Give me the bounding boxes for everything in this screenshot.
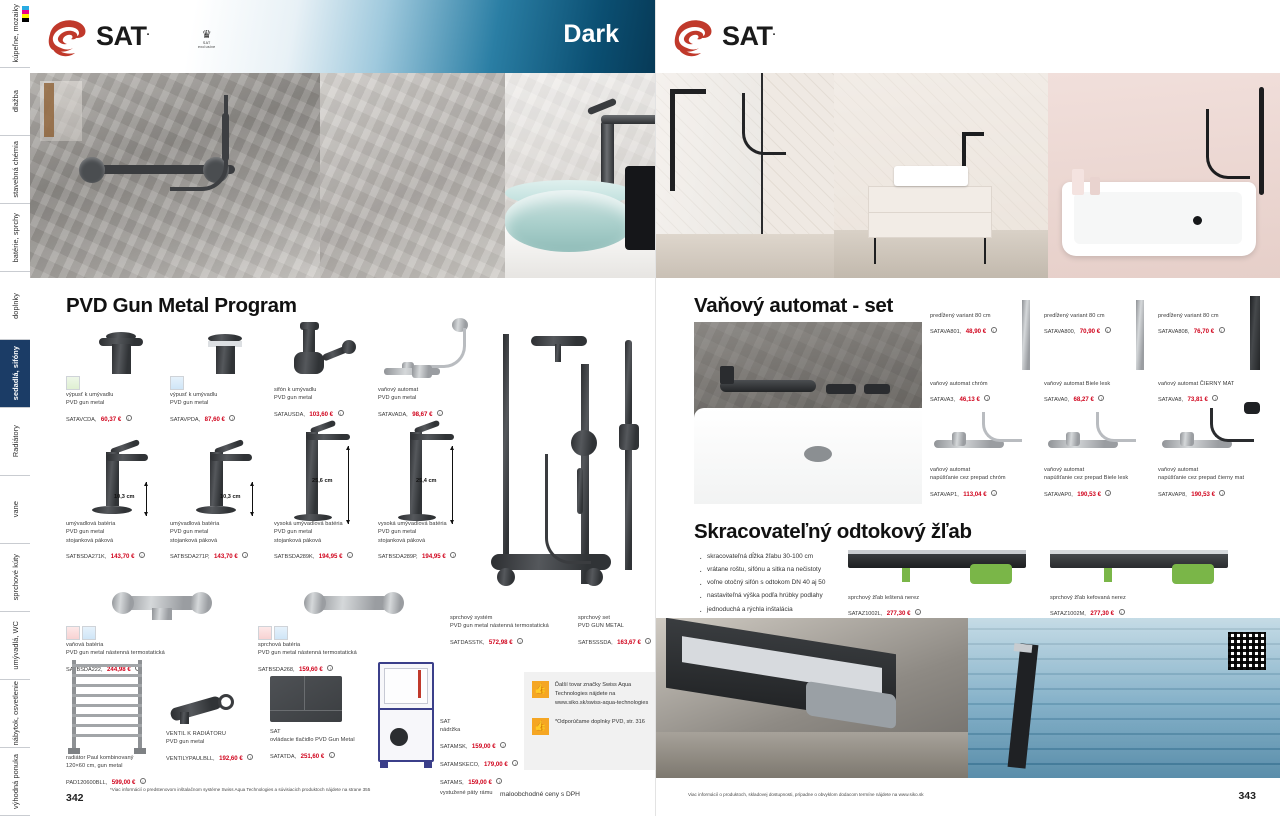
sat-logo-right: SAT. [668,14,775,58]
product-name-line2: PVD gun metal nástenná termostatická [258,649,408,657]
left-hero-photos [30,73,655,278]
product-price: 103,60 € [309,411,333,418]
product-code: SATAVAP0, [1044,492,1073,498]
product-name-line2: napúšťanie cez prepad chróm [930,474,1042,482]
fill-automat-art-2 [1162,408,1268,464]
qr-code-icon[interactable] [1228,632,1266,670]
product-code: SATAVADA, [378,412,408,418]
product-code: SATATDA, [270,754,296,760]
photo-drain-installation [656,618,968,778]
info-icon[interactable]: i [139,552,145,558]
shower-hose-art [170,95,228,191]
right-page: SAT. [655,0,1280,816]
product-card-fill-2[interactable]: vaňový automat napúšťanie cez prepad čie… [1158,466,1270,501]
info-icon[interactable]: i [327,665,333,671]
sidebar-item-10[interactable]: nábytok, osvetlenie [0,680,30,748]
product-badges [66,626,216,640]
product-name-line2: PVD gun metal [166,738,284,746]
product-name-line1: radiátor Paul kombinovaný [66,754,176,762]
section-title-drain-channel: Skracovateľný odtokový žľab [694,520,972,544]
tab-label: doplnky [11,293,20,319]
drain-channel-art-0 [848,548,1036,594]
vanity-legs-art [874,238,986,264]
product-card-1[interactable]: výpusť k umývadlu PVD gun metal SATAVPDA… [170,330,274,426]
product-price: 70,90 € [1080,328,1100,335]
product-price: 98,67 € [412,411,432,418]
product-code: SATAVA8, [1158,397,1183,403]
water-saving-icon [274,626,288,640]
product-card-4[interactable]: 10,3 cm umývadlová batéria PVD gun metal… [66,432,170,563]
product-name-line1: sifón k umývadlu [274,386,378,394]
product-card-12[interactable]: radiátor Paul kombinovaný 120×60 cm, gun… [66,660,176,789]
product-price: 190,53 € [1191,491,1215,498]
frame-code-0: SATAMSK, [440,744,467,750]
product-name-line2: PVD gun metal nástenná termostatická [450,622,568,630]
product-price: 159,60 € [299,666,323,673]
product-price: 163,67 € [617,639,641,646]
product-price: 60,37 € [101,416,121,423]
product-price: 73,81 € [1188,396,1208,403]
sat-swirl-icon [42,14,90,58]
hand-shower-art [222,113,229,161]
page-number-right: 343 [1238,790,1256,802]
note-text-0: Ďalší tovar značky Swiss Aqua Technologi… [555,681,656,709]
overflow-tube-art-2 [1250,296,1260,370]
product-badges [66,376,170,390]
footnote-left: *Viac informácií o predstenovom inštalač… [110,787,530,792]
product-code: SATAVCDA, [66,417,96,423]
product-code: SATAZ1002L, [848,611,882,617]
thumbs-up-icon: 👍 [532,681,549,698]
info-icon[interactable]: i [1219,490,1225,496]
sidebar-item-6[interactable]: Radiátory [0,408,30,476]
info-icon[interactable]: i [229,415,235,421]
fill-automat-art-0 [934,412,1030,464]
product-name-line2: napúšťanie cez prepad čierny mat [1158,474,1270,482]
product-name-line3: stojanková páková [274,537,378,545]
product-image-basin-mixer-p [170,432,274,520]
note-row-1: 👍 *Odporúčame doplnky PVD, str. 316 [532,718,656,735]
sat-exclusive-badge: ♛ SAT exclusive [198,30,215,49]
hero-photo-basin [505,73,655,278]
product-code: SATAVA800, [1044,329,1075,335]
note-row-0: 👍 Ďalší tovar značky Swiss Aqua Technolo… [532,681,656,709]
info-icon[interactable]: i [242,552,248,558]
product-image-tall-mixer-k [274,418,378,520]
product-name-line1: SAT [270,728,388,736]
overflow-tube-art-0 [1022,300,1030,370]
drain-channel-art-1 [1050,548,1238,594]
product-code: SATAVA801, [930,329,961,335]
product-price: 143,70 € [111,553,135,560]
product-name-line1: vaňový automat chróm [930,380,1042,388]
product-name-line2: PVD gun metal [66,528,170,536]
product-code: SATBSDA268, [258,667,295,673]
product-name-line1: výpusť k umývadlu [170,391,274,399]
product-price: 68,27 € [1074,396,1094,403]
product-name-line2: PVD gun metal [274,528,378,536]
product-name-line1: sprchová batéria [258,641,408,649]
product-name-line1: sprchový žľab kefovaná nerez [1050,594,1240,602]
right-hero-photos [656,73,1280,278]
hero-photo-wall-mixer [30,73,320,278]
product-badges [170,376,274,390]
product-image-bath-thermostat [66,590,216,626]
product-image-tall-mixer-p [378,418,486,520]
tab-label: umývadlá, WC [11,621,20,670]
hero-photo-shower-enclosure [656,73,834,278]
info-icon[interactable]: i [1098,395,1104,401]
crown-icon: ♛ [198,30,215,41]
tab-label: sedadlá, sifóny [11,346,20,400]
click-clack-icon [66,376,80,390]
info-icon[interactable]: i [1105,490,1111,496]
sidebar-item-4[interactable]: doplnky [0,272,30,340]
tab-label: nábytok, osvetlenie [11,681,20,745]
thermostat-icon [258,626,272,640]
info-icon[interactable]: i [140,778,146,784]
sat-wordmark: SAT. [96,21,149,52]
product-code: SATAVA0, [1044,397,1069,403]
dimension-label: 25,4 cm [416,478,437,484]
info-note-box: 👍 Ďalší tovar značky Swiss Aqua Technolo… [524,672,664,770]
product-name-line1: vysoká umývadlová batéria [274,520,378,528]
product-name-line3: stojanková páková [170,537,274,545]
retail-price-note: maloobchodné ceny s DPH [500,791,580,798]
left-page-header: SAT. ♛ SAT exclusive Dark [30,0,655,73]
info-icon[interactable]: i [517,638,523,644]
product-code: SATBSDA289K, [274,554,314,560]
sidebar-item-11[interactable]: výhodná ponuka [0,748,30,816]
product-card-fill-0[interactable]: vaňový automat napúšťanie cez prepad chr… [930,466,1042,501]
info-icon[interactable]: i [1219,327,1225,333]
sat-wordmark-right: SAT. [722,21,775,52]
installation-photos [656,618,1280,778]
product-name-line2: PVD gun metal [170,528,274,536]
product-name-line2: 120×60 cm, gun metal [66,762,176,770]
product-price: 113,04 € [963,491,986,498]
product-image-waste-pushopen [170,330,274,376]
product-code: SATAVA3, [930,397,955,403]
sat-swirl-icon [668,14,716,58]
thumbs-up-icon: 👍 [532,718,549,735]
page-number-left: 342 [66,792,84,804]
frame-code-1: SATAMSKECO, [440,762,480,768]
dimension-label: 10,3 cm [114,494,135,500]
black-shower-rail-art [1259,87,1264,195]
product-card-3[interactable]: vaňový automat PVD gun metal SATAVADA, 9… [378,318,488,421]
product-card-auto-1[interactable]: vaňový automat Biele lesk SATAVA0, 68,27… [1044,380,1156,406]
sidebar-item-5-active[interactable]: sedadlá, sifóny [0,340,30,408]
product-name-line3: stojanková páková [378,537,486,545]
sidebar-item-1[interactable]: dlažba [0,68,30,136]
tab-label: batérie, sprchy [11,213,20,262]
product-name-line1: vaňový automat [1158,466,1270,474]
page-title: PVD Gun Metal Program [66,294,297,318]
sidebar-item-7[interactable]: vane [0,476,30,544]
hero-photo-vanity [834,73,1048,278]
product-name-line1: vaňový automat [1044,466,1156,474]
product-price: 143,70 € [214,553,238,560]
left-page: SAT. ♛ SAT exclusive Dark [30,0,655,816]
product-image-basin-mixer-k [66,432,170,520]
tab-label: kúpeľne, mozaiky [11,4,20,62]
product-price: 251,60 € [301,753,325,760]
push-open-icon [170,376,184,390]
frame-price-1: 179,00 € [484,761,508,768]
product-price: 192,60 € [219,755,243,762]
product-code: SATAUSDA, [274,412,305,418]
product-badges [258,626,408,640]
info-icon[interactable]: i [496,778,502,784]
info-icon[interactable]: i [1119,609,1125,615]
product-name-line1: vaňový automat Biele lesk [1044,380,1156,388]
product-name-line1: VENTIL K RADIÁTORU [166,730,284,738]
water-saving-icon [82,626,96,640]
tab-label: výhodná ponuka [11,754,20,809]
dimension-label: 25,6 cm [312,478,333,484]
overflow-tube-art-1 [1136,300,1144,370]
product-image-radiator [66,660,176,754]
product-card-auto-0[interactable]: vaňový automat chróm SATAVA3, 46,13 € i [930,380,1042,406]
product-price: 277,30 € [887,610,911,617]
product-code: SATBSDA271K, [66,554,106,560]
product-price: 277,30 € [1090,610,1114,617]
product-image-flush-plate [270,676,388,728]
hero-photo-stone [320,73,505,278]
info-icon[interactable]: i [991,490,997,496]
info-icon[interactable]: i [338,410,344,416]
info-icon[interactable]: i [500,742,506,748]
product-name-line1: vaňový automat ČIERNY MAT [1158,380,1270,388]
vanity-cabinet-art [868,186,992,238]
info-icon[interactable]: i [329,752,335,758]
product-card-7[interactable]: 25,4 cm vysoká umývadlová batéria PVD gu… [378,418,486,563]
product-image-install-frame [378,662,438,770]
tab-label: vane [11,501,20,517]
product-name-line1: vysoká umývadlová batéria [378,520,486,528]
product-name-line2: PVD gun metal [274,394,378,402]
frame-price-2: 159,00 € [468,779,492,786]
product-card-10[interactable]: sprchový systém PVD gun metal nástenná t… [450,614,568,649]
product-name-line3: stojanková páková [66,537,170,545]
product-price: 194,95 € [422,553,446,560]
product-name-line2: PVD gun metal [378,394,488,402]
product-image-radiator-valve [166,690,284,730]
info-icon[interactable]: i [991,327,997,333]
product-image-bath-automat [378,318,488,386]
info-icon[interactable]: i [437,410,443,416]
info-icon[interactable]: i [645,638,651,644]
sidebar-item-3[interactable]: batérie, sprchy [0,204,30,272]
product-name-line1: vaňový automat [378,386,488,394]
product-card-drain-1[interactable]: sprchový žľab kefovaná nerez SATAZ1002M,… [1050,594,1240,620]
product-name-line1: sprchový systém [450,614,568,622]
tab-label: dlažba [11,90,20,112]
product-card-6[interactable]: 25,6 cm vysoká umývadlová batéria PVD gu… [274,418,378,563]
vessel-basin-art [894,166,968,186]
info-icon[interactable]: i [1105,327,1111,333]
product-name-line2: PVD gun metal nástenná termostatická [66,649,216,657]
product-card-2[interactable]: sifón k umývadlu PVD gun metal SATAUSDA,… [274,322,378,421]
product-name-line2: napúšťanie cez prepad Biele lesk [1044,474,1156,482]
product-price: 87,60 € [205,416,225,423]
sidebar-item-8[interactable]: sprchové kúty [0,544,30,612]
info-icon[interactable]: i [126,415,132,421]
product-price: 46,13 € [960,396,980,403]
product-card-0[interactable]: výpusť k umývadlu PVD gun metal SATAVCDA… [66,330,170,426]
product-code: SATAVAP8, [1158,492,1187,498]
product-price: 599,00 € [112,779,136,786]
product-price: 572,98 € [489,639,513,646]
product-code: SATAZ1002M, [1050,611,1086,617]
product-code: SATAVAP1, [930,492,959,498]
section-title-bath-automat: Vaňový automat - set [694,294,893,318]
product-name-line2: PVD gun metal [170,399,274,407]
cmyk-registration-icon [22,6,29,22]
sidebar-item-2[interactable]: stavebná chémia [0,136,30,204]
product-code: PAD120600BLL, [66,780,107,786]
dimension-label: 10,3 cm [220,494,241,500]
product-image-siphon [274,322,378,386]
product-name-line1: sprchový žľab leštená nerez [848,594,1038,602]
frame-code-2: SATAMS, [440,780,464,786]
info-icon[interactable]: i [915,609,921,615]
product-price: 76,70 € [1194,328,1214,335]
product-name-line1: vaňový automat [930,466,1042,474]
product-card-14[interactable]: SAT ovládacie tlačidlo PVD Gun Metal SAT… [270,676,388,763]
right-page-header: SAT. [656,0,1280,73]
product-image-shower-thermostat [258,590,408,626]
exclusive-line-2: exclusive [198,45,215,49]
catalog-spread: kúpeľne, mozaiky dlažba stavebná chémia … [0,0,1280,816]
product-code: SATAVPDA, [170,417,200,423]
product-code: SATBSSSDA, [578,640,613,646]
product-card-13[interactable]: VENTIL K RADIÁTORU PVD gun metal VENTILY… [166,690,284,765]
info-icon[interactable]: i [984,395,990,401]
info-icon[interactable]: i [347,552,353,558]
footnote-right: Viac informácií o produktoch, skladovej … [688,792,1148,797]
tab-label: sprchové kúty [11,554,20,600]
frame-price-0: 159,00 € [472,743,496,750]
product-card-5[interactable]: 10,3 cm umývadlová batéria PVD gun metal… [170,432,274,563]
bath-automat-photo [694,322,922,504]
sidebar-item-0[interactable]: kúpeľne, mozaiky [0,0,30,68]
product-card-fill-1[interactable]: vaňový automat napúšťanie cez prepad Bie… [1044,466,1156,501]
black-jar-art [625,166,655,250]
info-icon[interactable]: i [1212,395,1218,401]
product-code: SATAVA808, [1158,329,1189,335]
product-card-drain-0[interactable]: sprchový žľab leštená nerez SATAZ1002L, … [848,594,1038,620]
product-code: VENTILYPAULBLL, [166,756,215,762]
basin-bowl-art [505,190,633,252]
note-text-1: *Odporúčame doplnky PVD, str. 316 [555,718,645,727]
tab-label: stavebná chémia [11,141,20,198]
tab-label: Radiátory [11,425,20,457]
product-price: 190,53 € [1077,491,1101,498]
shower-system-art [485,318,660,618]
info-icon[interactable]: i [450,552,456,558]
product-image-waste-clickclack [66,330,170,376]
product-name-line1: vaňová batéria [66,641,216,649]
product-price: 48,90 € [966,328,986,335]
product-name-line2: ovládacie tlačidlo PVD Gun Metal [270,736,388,744]
product-name-line1: umývadlová batéria [66,520,170,528]
thermostat-icon [66,626,80,640]
info-icon[interactable]: i [512,760,518,766]
product-name-line2: PVD gun metal [378,528,486,536]
product-name-line1: výpusť k umývadlu [66,391,170,399]
product-name-line1: umývadlová batéria [170,520,274,528]
spread-pages: SAT. ♛ SAT exclusive Dark [30,0,1280,816]
sidebar-item-9[interactable]: umývadlá, WC [0,612,30,680]
product-name-line2: PVD gun metal [66,399,170,407]
product-code: SATDASSTK, [450,640,484,646]
product-code: SATBSDA271P, [170,554,210,560]
dark-collection-title: Dark [563,20,619,49]
left-tab-strip: kúpeľne, mozaiky dlažba stavebná chémia … [0,0,30,816]
fill-automat-art-1 [1048,412,1144,464]
product-code: SATBSDA289P, [378,554,418,560]
product-price: 194,95 € [319,553,343,560]
hero-photo-bathtub [1048,73,1280,278]
info-icon[interactable]: i [247,754,253,760]
sat-logo: SAT. [42,14,149,58]
